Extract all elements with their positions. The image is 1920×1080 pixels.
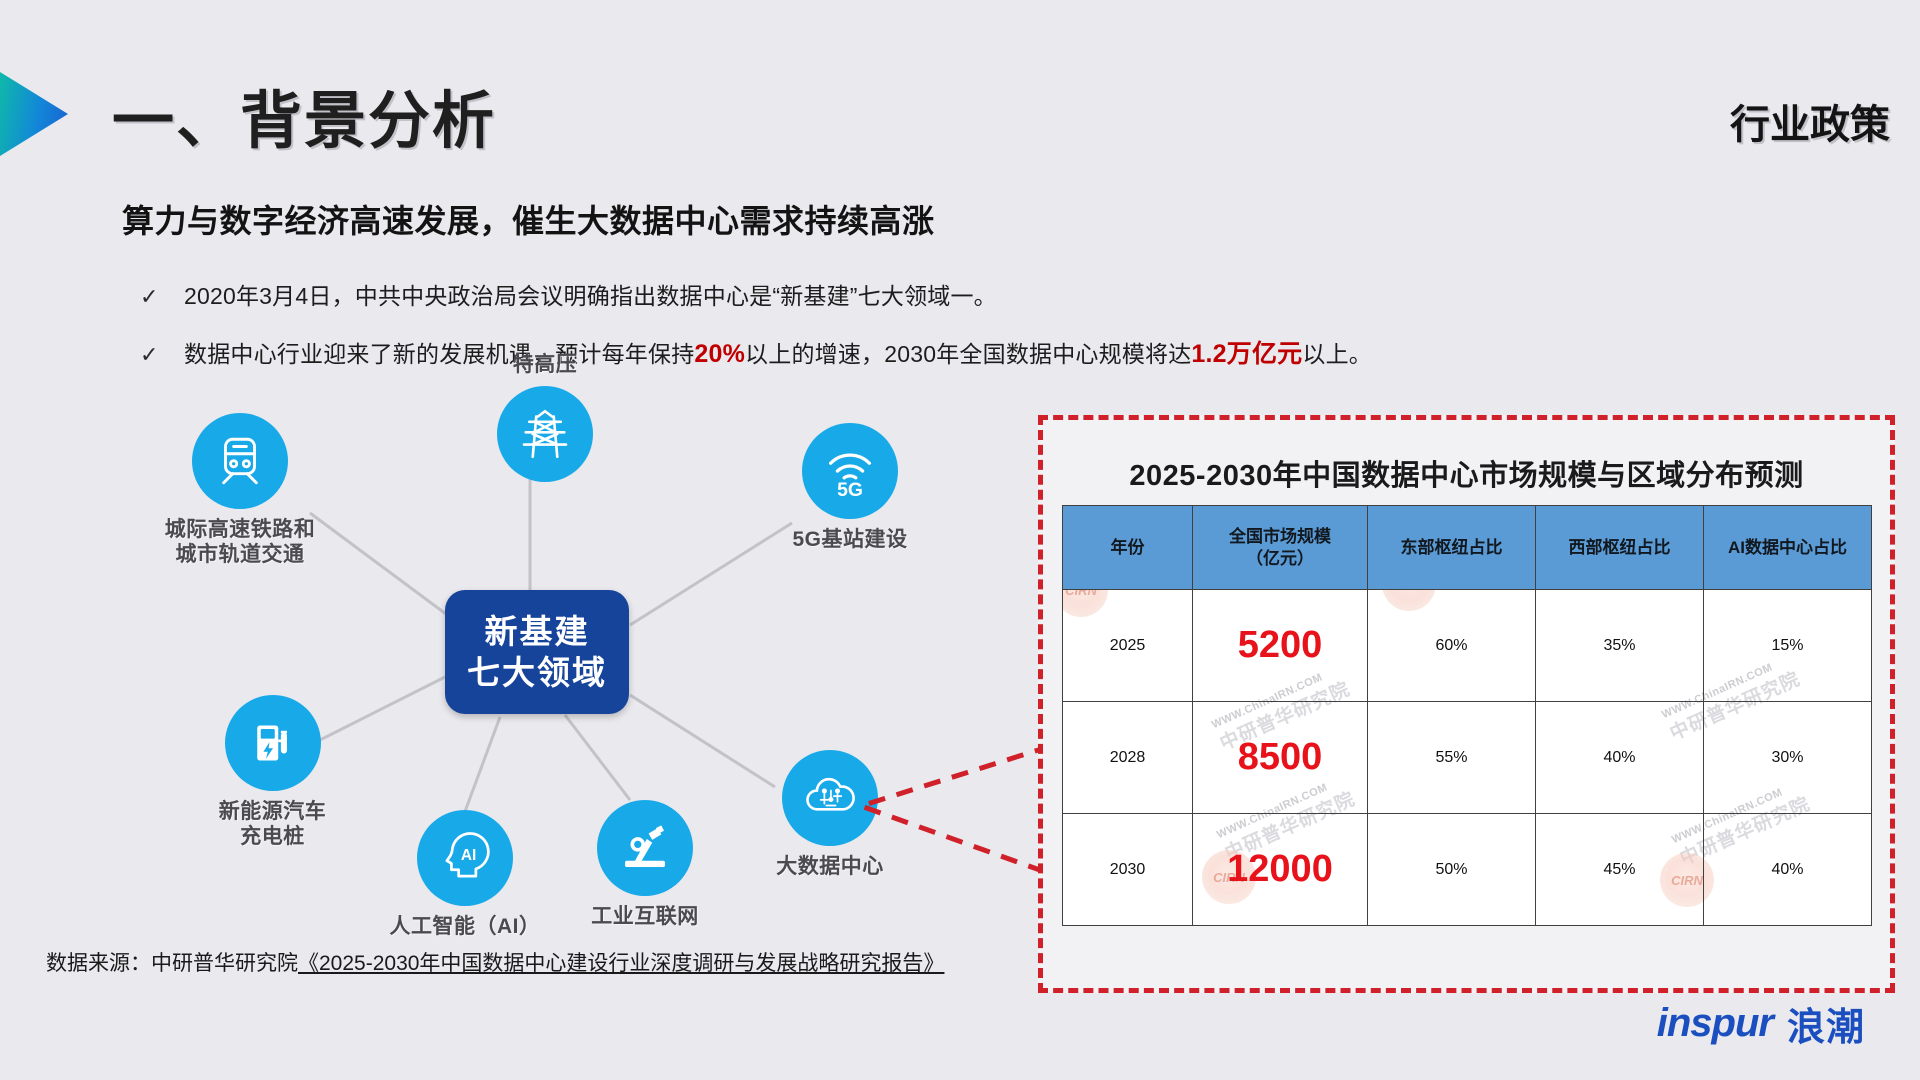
cell-scale: 12000	[1193, 814, 1368, 926]
bullet-text-part: 以上。	[1302, 341, 1372, 367]
table-header-row: 年份 全国市场规模 （亿元） 东部枢纽占比 西部枢纽占比 AI数据中心占比	[1063, 506, 1872, 590]
diagram-node-5g[interactable]: 5G 5G基站建设	[755, 423, 945, 553]
center-node-line1: 新基建	[485, 611, 590, 652]
callout-pointer-icon	[855, 740, 1055, 880]
header-arrow-icon	[0, 72, 68, 156]
cell-west: 40%	[1536, 702, 1704, 814]
new-infrastructure-diagram: 新基建 七大领域 城际高速铁路和 城市轨道交通 特高压	[30, 395, 990, 955]
diagram-node-ai[interactable]: AI 人工智能（AI）	[365, 810, 565, 940]
cell-scale: 8500	[1193, 702, 1368, 814]
cell-east: 60%	[1368, 590, 1536, 702]
bullet-item: ✓ 数据中心行业迎来了新的发展机遇，预计每年保持20%以上的增速，2030年全国…	[140, 334, 1372, 370]
source-prefix: 数据来源：中研普华研究院	[46, 952, 298, 975]
subtitle: 算力与数字经济高速发展，催生大数据中心需求持续高涨	[122, 196, 935, 242]
bullet-text: 2020年3月4日，中共中央政治局会议明确指出数据中心是“新基建”七大领域一。	[184, 277, 997, 311]
bullet-text-part: 以上的增速，2030年全国数据中心规模将达	[745, 341, 1191, 367]
robot-arm-icon	[597, 800, 693, 896]
source-report-title: 《2025-2030年中国数据中心建设行业深度调研与发展战略研究报告》	[298, 952, 944, 975]
ev-charger-icon	[225, 695, 321, 791]
cell-west: 35%	[1536, 590, 1704, 702]
check-icon: ✓	[140, 342, 184, 368]
table-title: 2025-2030年中国数据中心市场规模与区域分布预测	[1038, 452, 1895, 494]
cell-west: 45%	[1536, 814, 1704, 926]
diagram-node-industrial-internet[interactable]: 工业互联网	[555, 800, 735, 930]
table-row: 2028 8500 55% 40% 30%	[1063, 702, 1872, 814]
bullet-highlight-scale: 1.2万亿元	[1191, 340, 1302, 368]
cell-east: 55%	[1368, 702, 1536, 814]
logo-latin-text: inspur	[1657, 1001, 1773, 1046]
train-icon	[192, 413, 288, 509]
col-header-east: 东部枢纽占比	[1368, 506, 1536, 590]
page-title: 一、背景分析	[112, 70, 496, 160]
cell-ai: 15%	[1704, 590, 1872, 702]
cell-ai: 30%	[1704, 702, 1872, 814]
diagram-node-label: 新能源汽车 充电桩	[180, 800, 365, 850]
center-node-line2: 七大领域	[467, 652, 607, 693]
diagram-node-label: 城际高速铁路和 城市轨道交通	[140, 518, 340, 568]
forecast-table-container: 年份 全国市场规模 （亿元） 东部枢纽占比 西部枢纽占比 AI数据中心占比 20…	[1062, 505, 1872, 925]
bullet-highlight-growth: 20%	[694, 340, 745, 368]
col-header-west: 西部枢纽占比	[1536, 506, 1704, 590]
wifi-5g-icon: 5G	[802, 423, 898, 519]
bullet-text-part: 2020年3月4日，中共中央政治局会议明确指出数据中心是“新基建”七大领域一。	[184, 283, 997, 309]
diagram-node-uhv[interactable]: 特高压	[460, 353, 630, 482]
table-row: 2030 12000 50% 45% 40%	[1063, 814, 1872, 926]
table-row: 2025 5200 60% 35% 15%	[1063, 590, 1872, 702]
diagram-node-label: 工业互联网	[555, 905, 735, 930]
inspur-logo: inspur 浪潮	[1657, 996, 1865, 1051]
cell-ai: 40%	[1704, 814, 1872, 926]
ai-head-icon: AI	[417, 810, 513, 906]
cell-scale: 5200	[1193, 590, 1368, 702]
diagram-node-label: 特高压	[460, 353, 630, 378]
cell-year: 2030	[1063, 814, 1193, 926]
source-note: 数据来源：中研普华研究院《2025-2030年中国数据中心建设行业深度调研与发展…	[46, 947, 944, 977]
diagram-node-rail[interactable]: 城际高速铁路和 城市轨道交通	[140, 413, 340, 568]
cell-east: 50%	[1368, 814, 1536, 926]
diagram-node-label: 人工智能（AI）	[365, 915, 565, 940]
col-header-year: 年份	[1063, 506, 1193, 590]
svg-text:AI: AI	[461, 847, 476, 864]
diagram-center-node: 新基建 七大领域	[445, 590, 629, 714]
cell-year: 2025	[1063, 590, 1193, 702]
diagram-node-ev-charger[interactable]: 新能源汽车 充电桩	[180, 695, 365, 850]
diagram-node-label: 5G基站建设	[755, 528, 945, 553]
cell-year: 2028	[1063, 702, 1193, 814]
power-tower-icon	[497, 386, 593, 482]
forecast-table: 年份 全国市场规模 （亿元） 东部枢纽占比 西部枢纽占比 AI数据中心占比 20…	[1062, 505, 1872, 926]
svg-text:5G: 5G	[837, 479, 863, 501]
slide-header: 一、背景分析 行业政策	[0, 0, 1920, 190]
bullet-text: 数据中心行业迎来了新的发展机遇，预计每年保持20%以上的增速，2030年全国数据…	[184, 334, 1372, 370]
logo-chinese-text: 浪潮	[1787, 996, 1865, 1051]
header-right-label: 行业政策	[1730, 92, 1890, 150]
col-header-ai: AI数据中心占比	[1704, 506, 1872, 590]
col-header-scale: 全国市场规模 （亿元）	[1193, 506, 1368, 590]
bullet-item: ✓ 2020年3月4日，中共中央政治局会议明确指出数据中心是“新基建”七大领域一…	[140, 277, 997, 311]
check-icon: ✓	[140, 284, 184, 310]
